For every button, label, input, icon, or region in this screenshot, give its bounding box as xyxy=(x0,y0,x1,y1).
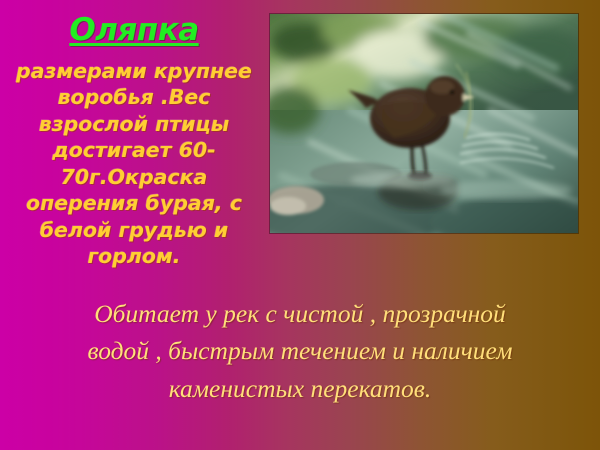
bird-photo-illustration xyxy=(270,14,578,233)
body-line: воробья .Вес xyxy=(2,84,266,110)
bottom-line: каменистых перекатов. xyxy=(8,370,592,407)
body-line: 70г.Окраска xyxy=(2,164,266,190)
bottom-line: Обитает у рек с чистой , прозрачной xyxy=(8,295,592,332)
body-line: достигает 60- xyxy=(2,137,266,163)
bottom-paragraph: Обитает у рек с чистой , прозрачной водо… xyxy=(8,295,592,407)
body-line: оперения бурая, с xyxy=(2,190,266,216)
body-line: размерами крупнее xyxy=(2,58,266,84)
page-title: Оляпка xyxy=(0,14,268,47)
bottom-line: водой , быстрым течением и наличием xyxy=(8,332,592,369)
body-line: белой грудью и xyxy=(2,217,266,243)
slide-canvas: Оляпка размерами крупнее воробья .Вес вз… xyxy=(0,0,600,450)
body-paragraph: размерами крупнее воробья .Вес взрослой … xyxy=(2,58,266,270)
body-line: горлом. xyxy=(2,243,266,269)
body-line: взрослой птицы xyxy=(2,111,266,137)
bird-photo xyxy=(270,14,578,233)
